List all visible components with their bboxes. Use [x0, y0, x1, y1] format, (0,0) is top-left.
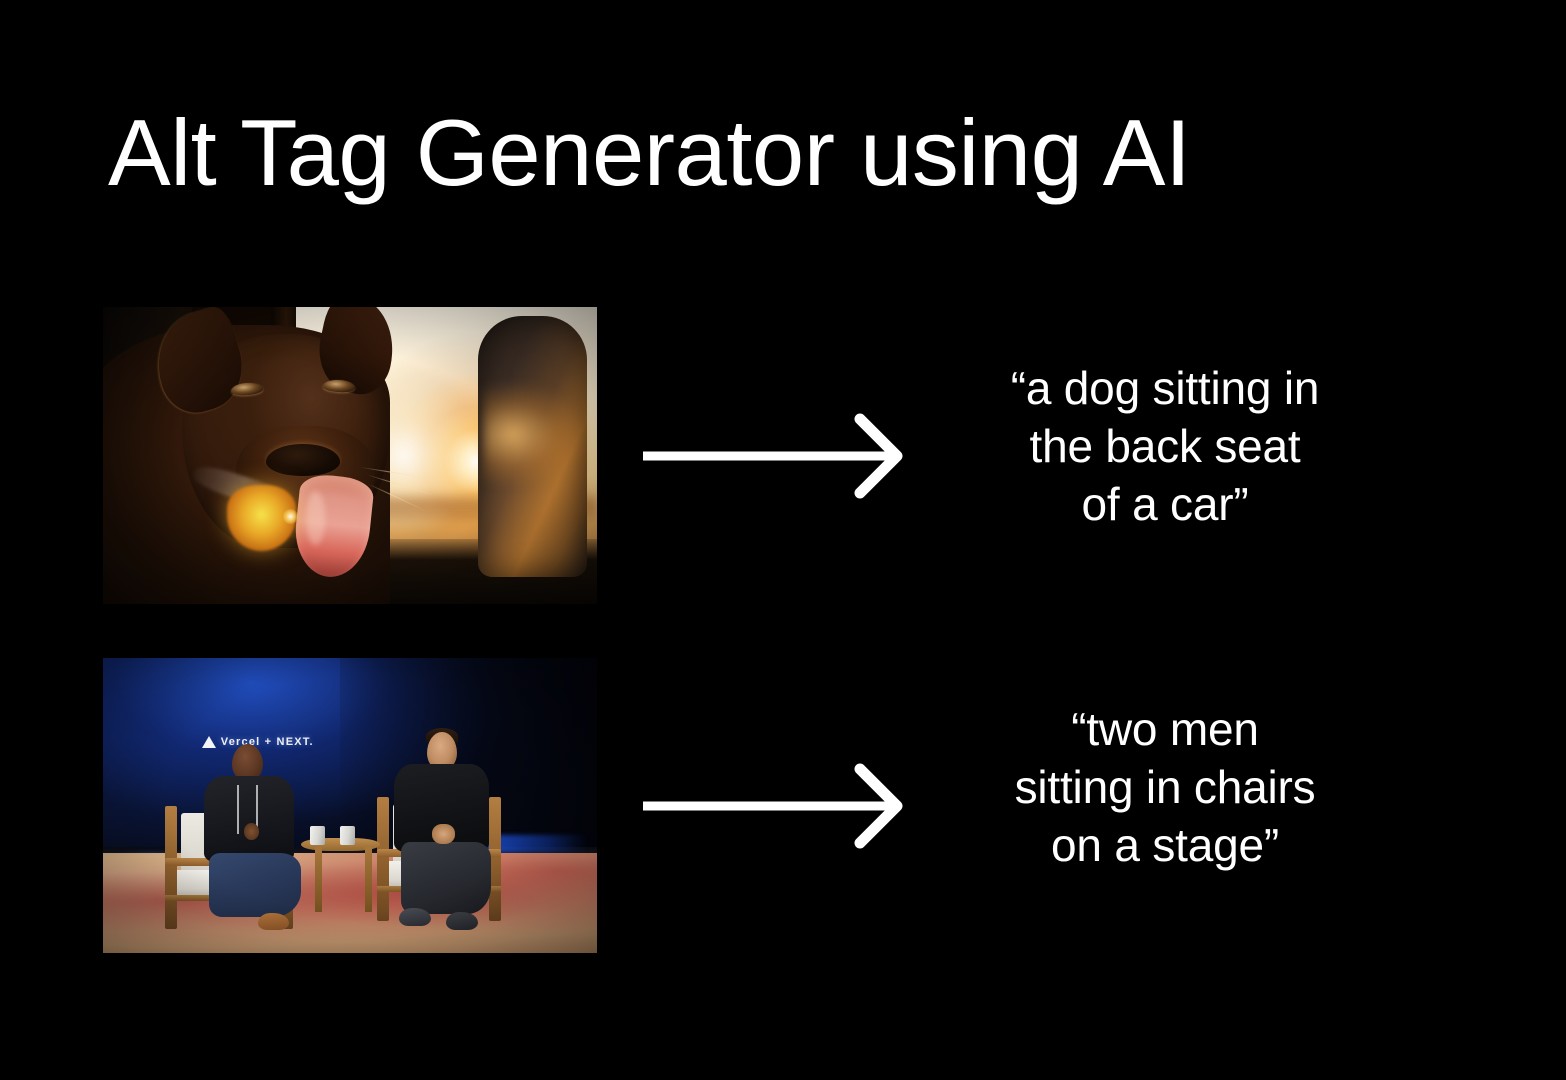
- caption-line: of a car”: [955, 475, 1375, 533]
- conference-stage-photo: Vercel + NEXT.: [103, 658, 597, 953]
- caption-line: sitting in chairs: [955, 758, 1375, 816]
- caption-line: “a dog sitting in: [955, 359, 1375, 417]
- dog-in-car-photo: [103, 307, 597, 604]
- arrow-right-icon: [638, 761, 906, 851]
- caption-line: the back seat: [955, 417, 1375, 475]
- photo-vignette: [103, 658, 597, 953]
- example-row: Vercel + NEXT.: [0, 658, 1566, 953]
- caption-line: “two men: [955, 700, 1375, 758]
- page-title: Alt Tag Generator using AI: [108, 106, 1191, 200]
- dog-in-car-illustration: [103, 307, 597, 604]
- arrow-right-icon: [638, 411, 906, 501]
- alt-text-caption: “two men sitting in chairs on a stage”: [955, 700, 1375, 874]
- caption-line: on a stage”: [955, 816, 1375, 874]
- example-row: “a dog sitting in the back seat of a car…: [0, 307, 1566, 604]
- conference-stage-illustration: Vercel + NEXT.: [103, 658, 597, 953]
- photo-vignette: [103, 307, 597, 604]
- alt-text-caption: “a dog sitting in the back seat of a car…: [955, 359, 1375, 533]
- slide-canvas: { "slide": { "title": "Alt Tag Generator…: [0, 0, 1566, 1080]
